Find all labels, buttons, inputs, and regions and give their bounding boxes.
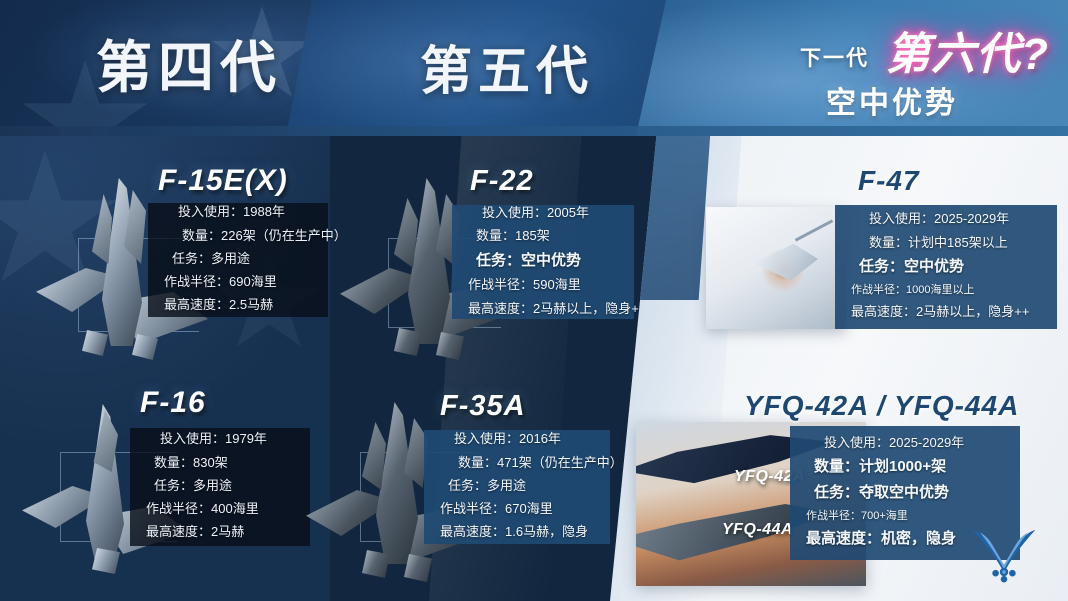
spec-row: 投入使用：2016年	[440, 431, 594, 447]
spec-row: 作战半径：400海里	[146, 501, 294, 517]
spec-row: 任务：多用途	[146, 478, 294, 494]
spec-row: 数量：计划中185架以上	[851, 235, 1041, 251]
spec-row: 任务：多用途	[164, 251, 312, 267]
spec-card-f35a: 投入使用：2016年 数量：471架（仍在生产中） 任务：多用途 作战半径：67…	[424, 430, 610, 544]
next-generation-label: 下一代	[800, 42, 869, 72]
spec-row: 最高速度：2马赫以上，隐身++	[851, 304, 1041, 320]
aircraft-name-f35a: F-35A	[440, 390, 526, 423]
spec-row: 投入使用：2005年	[468, 205, 618, 221]
spec-row: 数量：计划1000+架	[806, 458, 1004, 477]
aircraft-name-f47: F-47	[858, 165, 920, 197]
aircraft-name-yfq: YFQ-42A / YFQ-44A	[744, 390, 1019, 422]
spec-row: 最高速度：1.6马赫，隐身	[440, 524, 594, 540]
spec-row: 任务：夺取空中优势	[806, 484, 1004, 503]
spec-row: 作战半径：1000海里以上	[851, 284, 1041, 298]
spec-row: 数量：226架（仍在生产中）	[164, 228, 312, 244]
spec-row: 作战半径：590海里	[468, 277, 618, 293]
spec-row: 最高速度：2马赫以上，隐身+	[468, 301, 618, 317]
spec-row: 数量：830架	[146, 455, 294, 471]
f-47-probe-shape	[795, 219, 833, 241]
header-bar: 第四代 第五代 下一代 第六代? 空中优势	[0, 0, 1068, 136]
spec-card-f16: 投入使用：1979年 数量：830架 任务：多用途 作战半径：400海里 最高速…	[130, 428, 310, 546]
yfq-44a-image-label: YFQ-44A	[722, 521, 793, 539]
usaf-wings-logo	[968, 524, 1040, 584]
spec-row: 作战半径：690海里	[164, 274, 312, 290]
spec-row: 数量：471架（仍在生产中）	[440, 455, 594, 471]
spec-row: 任务：多用途	[440, 478, 594, 494]
spec-row: 最高速度：2马赫	[146, 524, 294, 540]
spec-row: 数量：185架	[468, 228, 618, 244]
spec-row: 投入使用：1988年	[164, 204, 312, 220]
spec-row: 作战半径：670海里	[440, 501, 594, 517]
generation-5-title: 第五代	[420, 46, 594, 98]
f-47-nose-shape	[754, 244, 818, 281]
air-superiority-label: 空中优势	[826, 78, 958, 122]
spec-card-f15: 投入使用：1988年 数量：226架（仍在生产中） 任务：多用途 作战半径：69…	[148, 203, 328, 317]
spec-row: 投入使用：2025-2029年	[806, 435, 1004, 451]
infographic-canvas: 第四代 第五代 下一代 第六代? 空中优势 F-15E(X) 投入使用：1988…	[0, 0, 1068, 601]
spec-row: 任务：空中优势	[468, 252, 618, 271]
header-bottom-strip	[0, 126, 1068, 136]
aircraft-name-f16: F-16	[140, 386, 206, 420]
aircraft-name-f15: F-15E(X)	[158, 164, 288, 198]
spec-row: 作战半径：700+海里	[806, 510, 1004, 524]
f-47-concept-photo	[706, 207, 846, 329]
spec-card-f47: 投入使用：2025-2029年 数量：计划中185架以上 任务：空中优势 作战半…	[835, 205, 1057, 329]
spec-row: 投入使用：1979年	[146, 431, 294, 447]
generation-4-title: 第四代	[96, 40, 282, 96]
spec-row: 投入使用：2025-2029年	[851, 211, 1041, 227]
aircraft-name-f22: F-22	[470, 165, 534, 198]
spec-row: 最高速度：2.5马赫	[164, 297, 312, 313]
spec-row: 任务：空中优势	[851, 258, 1041, 277]
generation-6-title: 第六代?	[886, 18, 1049, 82]
spec-card-f22: 投入使用：2005年 数量：185架 任务：空中优势 作战半径：590海里 最高…	[452, 205, 634, 319]
